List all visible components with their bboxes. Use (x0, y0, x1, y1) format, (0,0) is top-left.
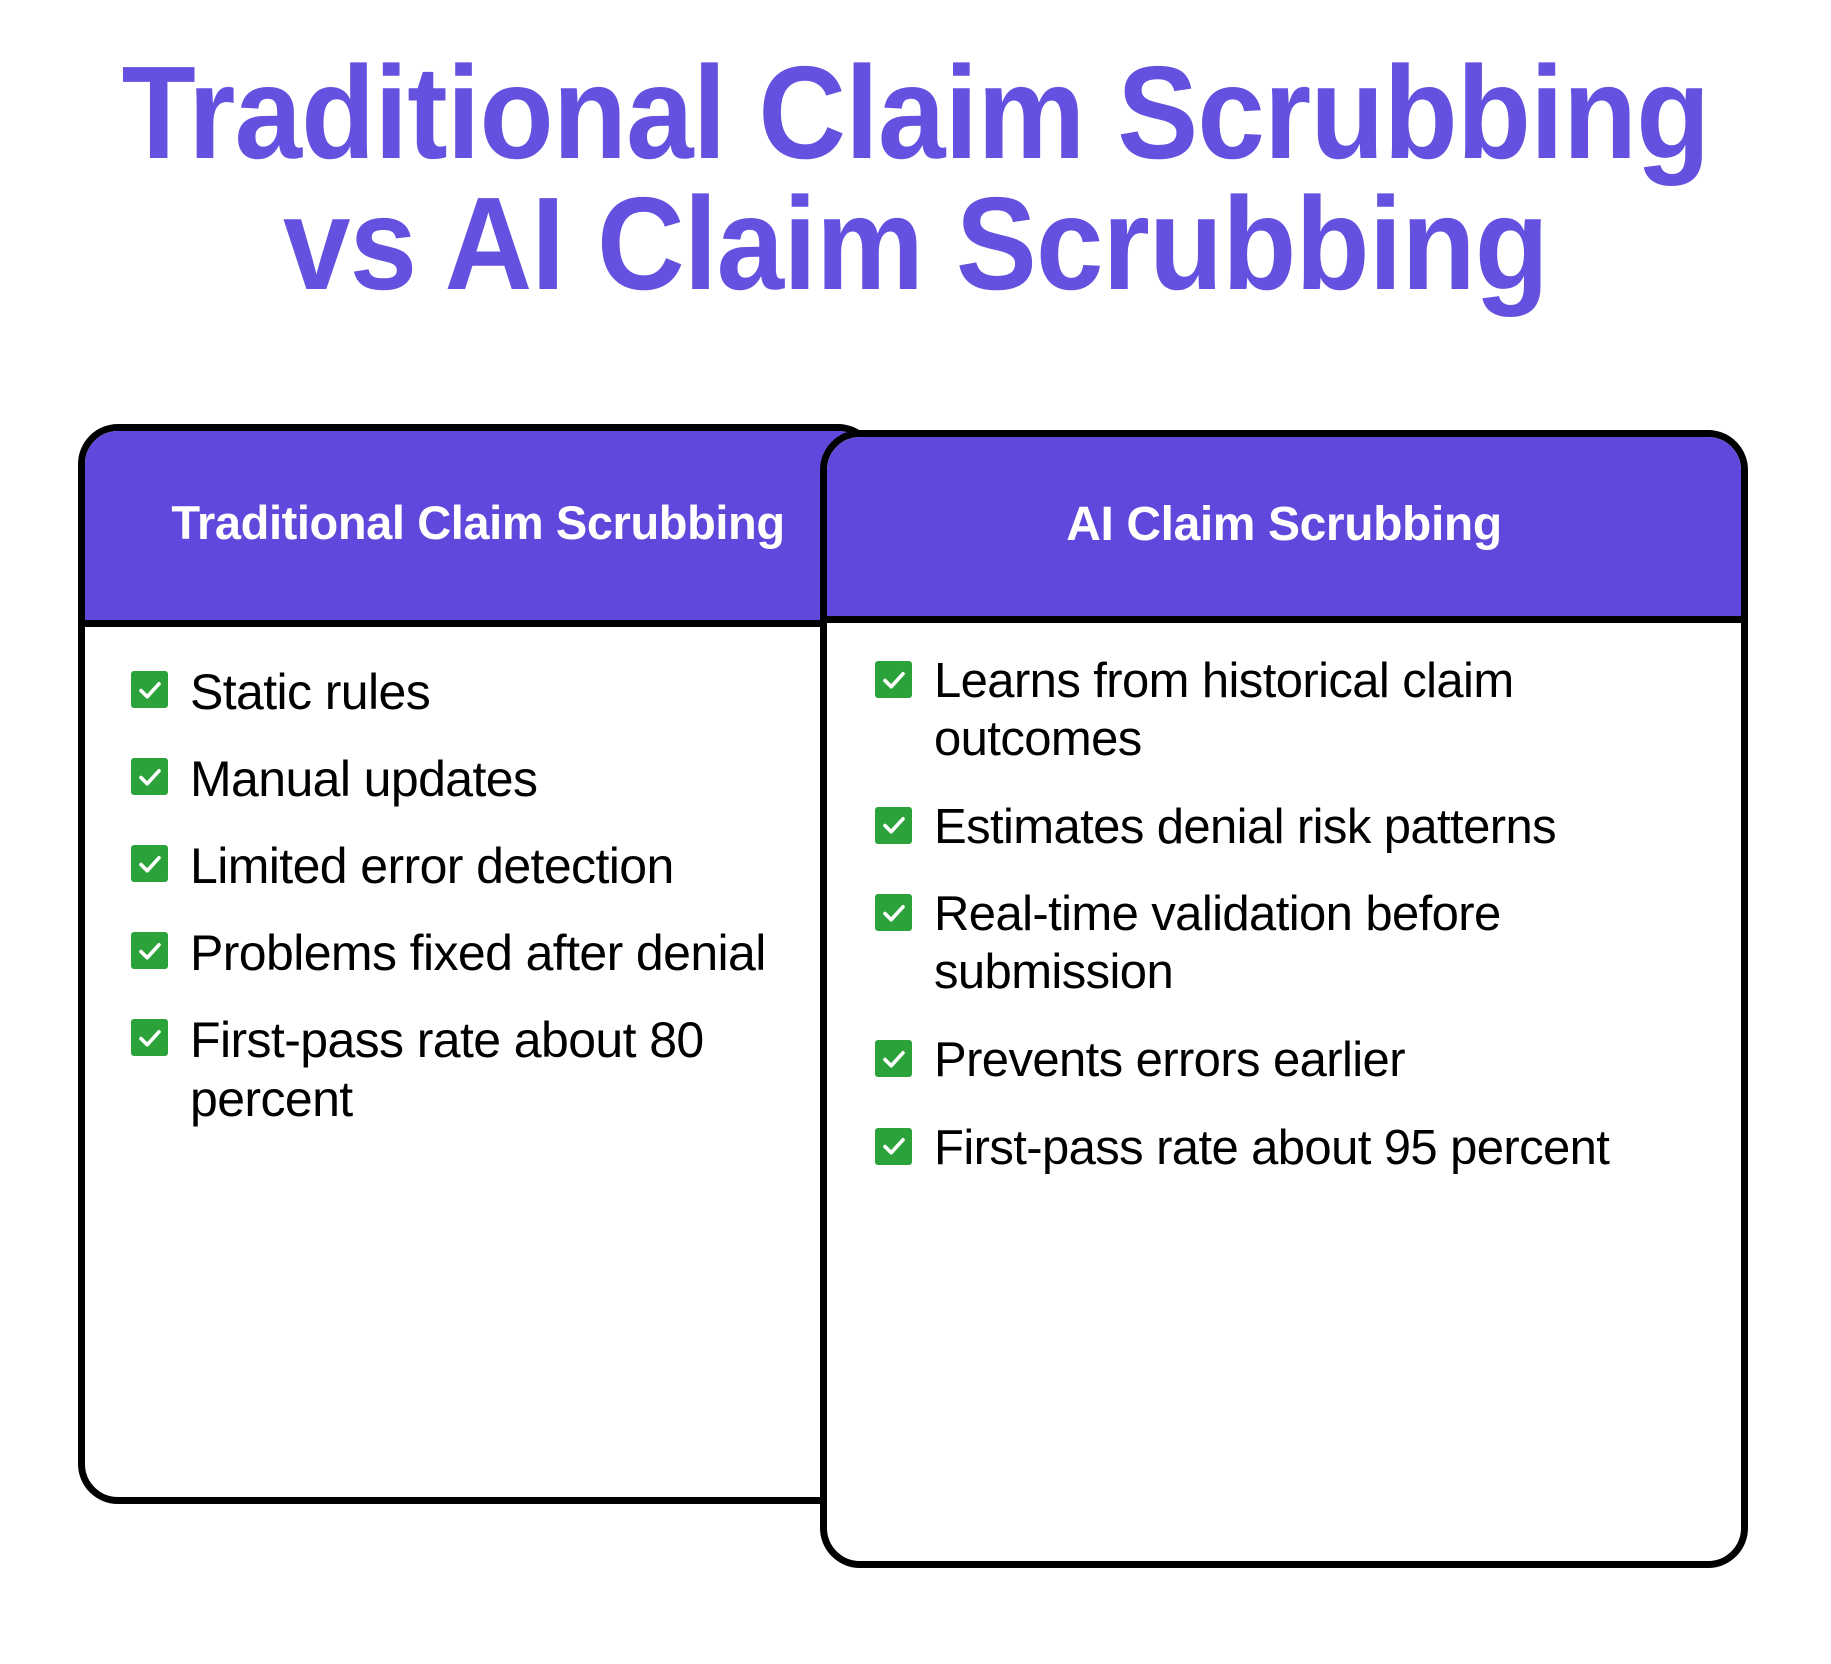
check-icon (131, 671, 168, 708)
comparison-cards: Traditional Claim Scrubbing Static rules (0, 0, 1831, 1664)
card-header-ai: AI Claim Scrubbing (827, 437, 1741, 623)
list-item: Real-time validation before submission (875, 886, 1713, 1002)
card-header-title: AI Claim Scrubbing (1066, 497, 1502, 552)
list-item: Manual updates (131, 750, 841, 809)
list-item: Static rules (131, 663, 841, 722)
check-icon (875, 661, 912, 698)
check-icon (875, 1040, 912, 1077)
list-item: First-pass rate about 95 percent (875, 1120, 1713, 1178)
card-ai-claim-scrubbing: AI Claim Scrubbing Learns from historica… (820, 430, 1748, 1568)
list-item: Estimates denial risk patterns (875, 799, 1713, 857)
feature-list-traditional: Static rules Manual updates Limited erro… (131, 663, 841, 1129)
list-item-label: First-pass rate about 95 percent (934, 1120, 1609, 1178)
feature-list-ai: Learns from historical claim outcomes Es… (875, 653, 1713, 1178)
list-item-label: Static rules (190, 663, 430, 722)
card-body-ai: Learns from historical claim outcomes Es… (827, 623, 1741, 1561)
list-item: Prevents errors earlier (875, 1032, 1713, 1090)
list-item-label: Estimates denial risk patterns (934, 799, 1556, 857)
list-item-label: First-pass rate about 80 percent (190, 1011, 841, 1129)
list-item-label: Real-time validation before submission (934, 886, 1713, 1002)
list-item-label: Limited error detection (190, 837, 674, 896)
list-item-label: Prevents errors earlier (934, 1032, 1405, 1090)
card-traditional-claim-scrubbing: Traditional Claim Scrubbing Static rules (78, 424, 878, 1504)
check-icon (875, 807, 912, 844)
card-body-traditional: Static rules Manual updates Limited erro… (85, 627, 871, 1497)
list-item: Learns from historical claim outcomes (875, 653, 1713, 769)
list-item-label: Learns from historical claim outcomes (934, 653, 1713, 769)
list-item: Limited error detection (131, 837, 841, 896)
check-icon (131, 845, 168, 882)
check-icon (131, 1019, 168, 1056)
check-icon (875, 1128, 912, 1165)
list-item: Problems fixed after denial (131, 924, 841, 983)
list-item-label: Problems fixed after denial (190, 924, 766, 983)
infographic-page: Traditional Claim Scrubbing vs AI Claim … (0, 0, 1831, 1664)
check-icon (131, 932, 168, 969)
check-icon (131, 758, 168, 795)
list-item: First-pass rate about 80 percent (131, 1011, 841, 1129)
card-header-traditional: Traditional Claim Scrubbing (85, 431, 871, 627)
list-item-label: Manual updates (190, 750, 537, 809)
check-icon (875, 894, 912, 931)
card-header-title: Traditional Claim Scrubbing (171, 496, 784, 550)
